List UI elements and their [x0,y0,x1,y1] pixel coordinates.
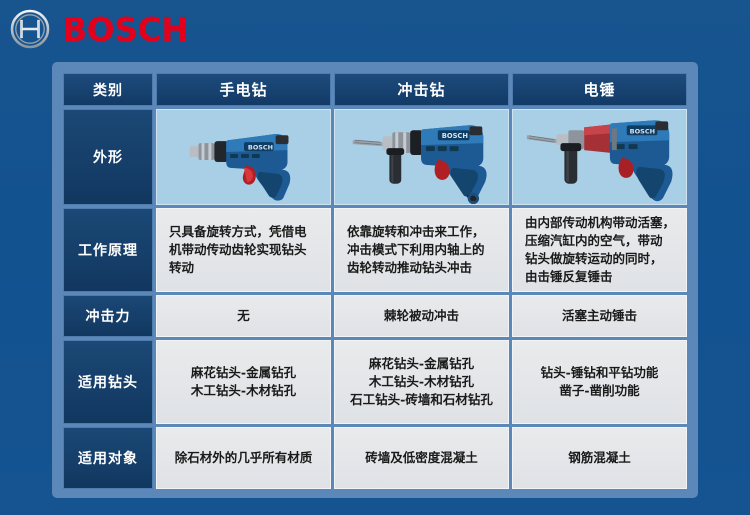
table-row: 适用对象 除石材外的几乎所有材质 砖墙及低密度混凝土 钢筋混凝土 [63,427,687,489]
comparison-table-panel: 类别 手电钻 冲击钻 电锤 外形 [52,62,698,498]
cell-shape-rotary-hammer: BOSCH [512,109,687,205]
impact-drill-photo: BOSCH [335,110,508,204]
header-cell-rotary-hammer: 电锤 [512,73,687,106]
cell-bits-impact-drill: 麻花钻头-金属钻孔 木工钻头-木材钻孔 石工钻头-砖墙和石材钻孔 [334,340,509,424]
brand-header: BOSCH [0,0,750,58]
table-row: 适用钻头 麻花钻头-金属钻孔 木工钻头-木材钻孔 麻花钻头-金属钻孔 木工钻头-… [63,340,687,424]
cell-bits-hand-drill: 麻花钻头-金属钻孔 木工钻头-木材钻孔 [156,340,331,424]
table-row: 外形 [63,109,687,205]
rotary-hammer-photo: BOSCH [513,110,686,204]
table-row: 冲击力 无 棘轮被动冲击 活塞主动锤击 [63,295,687,337]
row-label-bits: 适用钻头 [63,340,153,424]
cell-shape-impact-drill: BOSCH [334,109,509,205]
cell-target-hand-drill: 除石材外的几乎所有材质 [156,427,331,489]
cell-impact-rotary-hammer: 活塞主动锤击 [512,295,687,337]
cell-impact-hand-drill: 无 [156,295,331,337]
table-header-row: 类别 手电钻 冲击钻 电锤 [63,73,687,106]
row-label-target-material: 适用对象 [63,427,153,489]
header-cell-category: 类别 [63,73,153,106]
header-cell-hand-drill: 手电钻 [156,73,331,106]
svg-text:BOSCH: BOSCH [630,127,655,135]
cell-target-impact-drill: 砖墙及低密度混凝土 [334,427,509,489]
hand-drill-photo: BOSCH [157,110,330,204]
page-root: BOSCH 类别 手电钻 冲击钻 电锤 外形 [0,0,750,515]
svg-text:BOSCH: BOSCH [442,132,468,140]
row-label-principle: 工作原理 [63,208,153,292]
row-label-impact-force: 冲击力 [63,295,153,337]
cell-principle-hand-drill: 只具备旋转方式，凭借电 机带动传动齿轮实现钻头 转动 [156,208,331,292]
cell-principle-impact-drill: 依靠旋转和冲击来工作， 冲击模式下利用内轴上的 齿轮转动推动钻头冲击 [334,208,509,292]
cell-target-rotary-hammer: 钢筋混凝土 [512,427,687,489]
cell-impact-impact-drill: 棘轮被动冲击 [334,295,509,337]
brand-wordmark: BOSCH [62,13,188,46]
cell-principle-rotary-hammer: 由内部传动机构带动活塞， 压缩汽缸内的空气，带动 钻头做旋转运动的同时， 由击锤… [512,208,687,292]
row-label-shape: 外形 [63,109,153,205]
cell-shape-hand-drill: BOSCH [156,109,331,205]
svg-text:BOSCH: BOSCH [248,144,273,152]
cell-bits-rotary-hammer: 钻头-锤钻和平钻功能 凿子-凿削功能 [512,340,687,424]
bosch-emblem-icon [10,9,50,49]
drill-comparison-table: 类别 手电钻 冲击钻 电锤 外形 [60,70,690,492]
header-cell-impact-drill: 冲击钻 [334,73,509,106]
table-row: 工作原理 只具备旋转方式，凭借电 机带动传动齿轮实现钻头 转动 依靠旋转和冲击来… [63,208,687,292]
